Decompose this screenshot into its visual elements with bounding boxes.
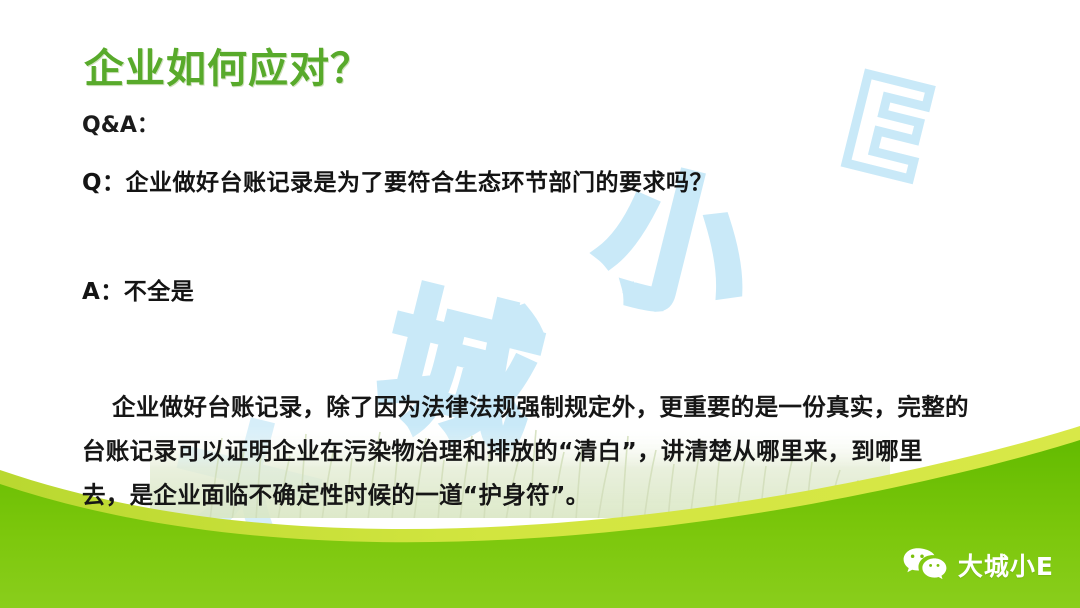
body-paragraph: 企业做好台账记录，除了因为法律法规强制规定外，更重要的是一份真实，完整的 台账记…	[82, 385, 1012, 517]
slide-canvas: 大 城 小 E	[0, 0, 1080, 608]
qa-section-label: Q&A：	[82, 107, 159, 139]
body-paragraph-line-1: 企业做好台账记录，除了因为法律法规强制规定外，更重要的是一份真实，完整的	[82, 385, 1012, 429]
brand-label: 大城小E	[958, 547, 1054, 583]
body-paragraph-line-2: 台账记录可以证明企业在污染物治理和排放的“清白”，讲清楚从哪里来，到哪里	[82, 429, 1012, 473]
qa-question-line: Q：企业做好台账记录是为了要符合生态环节部门的要求吗？	[82, 163, 713, 197]
body-paragraph-line-3: 去，是企业面临不确定性时候的一道“护身符”。	[82, 473, 1012, 517]
qa-answer-line: A：不全是	[82, 272, 194, 306]
brand-block: 大城小E	[902, 546, 1054, 584]
page-title: 企业如何应对？	[84, 36, 371, 94]
watermark-char-e: E	[830, 57, 944, 200]
wechat-icon	[902, 546, 948, 584]
